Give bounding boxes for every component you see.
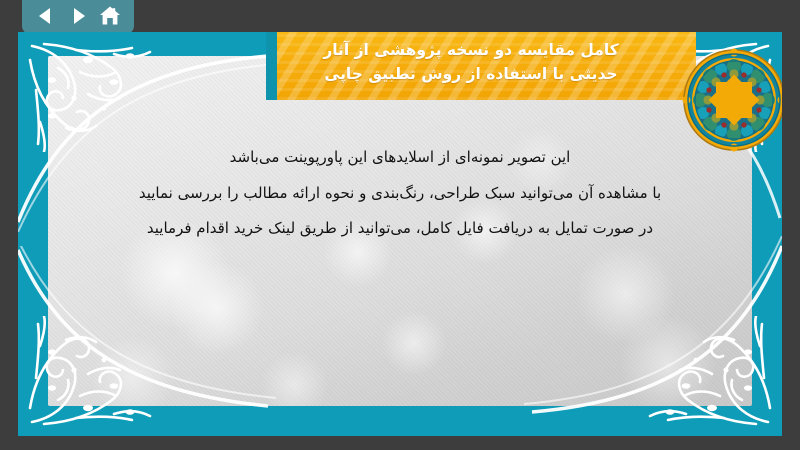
home-button[interactable] (97, 3, 123, 29)
navigation-bar (22, 0, 134, 34)
slide-viewer: کامل مقایسه دو نسخه پژوهشی از آثار حدیثی… (0, 0, 800, 450)
back-icon (35, 5, 57, 27)
body-line-2: با مشاهده آن می‌توانید سبک طراحی، رنگ‌بن… (58, 176, 742, 212)
slide-body-text: این تصویر نمونه‌ای از اسلایدهای این پاور… (58, 140, 742, 247)
body-line-3: در صورت تمایل به دریافت فایل کامل، می‌تو… (58, 211, 742, 247)
back-button[interactable] (33, 3, 59, 29)
forward-button[interactable] (65, 3, 91, 29)
slide-frame: کامل مقایسه دو نسخه پژوهشی از آثار حدیثی… (18, 32, 782, 436)
slide-title-banner: کامل مقایسه دو نسخه پژوهشی از آثار حدیثی… (266, 32, 696, 100)
forward-icon (67, 5, 89, 27)
persian-medallion-ornament-icon (682, 48, 782, 152)
slide-title-line-1: کامل مقایسه دو نسخه پژوهشی از آثار (323, 38, 618, 62)
body-line-1: این تصویر نمونه‌ای از اسلایدهای این پاور… (58, 140, 742, 176)
home-icon (98, 4, 122, 28)
slide-title-line-2: حدیثی با استفاده از روش تطبیق چاپی (324, 62, 617, 86)
